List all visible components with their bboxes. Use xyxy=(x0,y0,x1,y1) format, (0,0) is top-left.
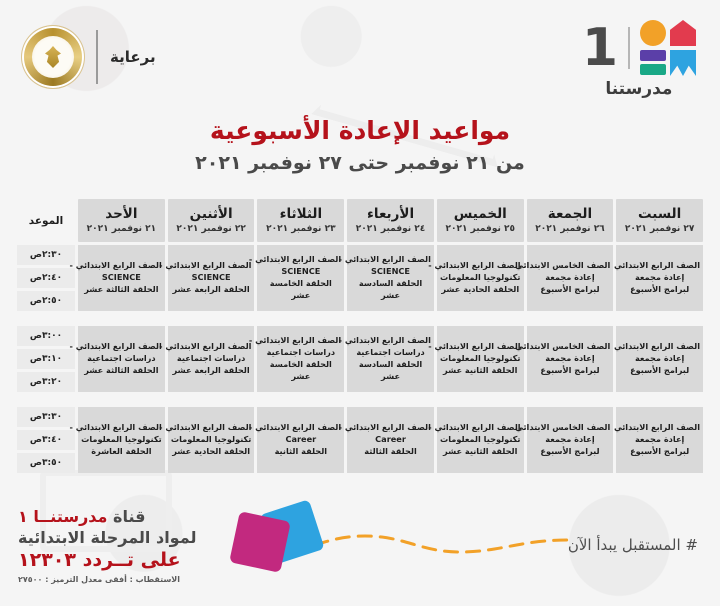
program-line-l1: الصف الرابع الابتدائي - xyxy=(260,254,341,266)
program-line-l3: الحلقة الثانية xyxy=(260,446,341,458)
program-line-l3: لبرامج الأسبوع xyxy=(530,284,611,296)
day-name: الأربعاء xyxy=(349,206,432,222)
channel-divider xyxy=(628,27,630,69)
program-line-l1: الصف الرابع الابتدائي - xyxy=(171,422,252,434)
time-slot[interactable]: ٣:٣٠ص xyxy=(17,407,75,427)
program-cell[interactable]: الصف الخامس الابتدائيإعادة مجمعةلبرامج ا… xyxy=(527,407,614,473)
channel-scope: لمواد المرحلة الابتدائية xyxy=(18,528,196,547)
day-date: ٢٦ نوفمبر ٢٠٢١ xyxy=(529,224,612,234)
program-line-l3: لبرامج الأسبوع xyxy=(619,284,700,296)
program-cell[interactable]: الصف الرابع الابتدائيإعادة مجمعةلبرامج ا… xyxy=(616,326,703,392)
program-line-l1: الصف الخامس الابتدائي xyxy=(530,341,611,353)
frequency-info: قناة مدرستنــا ١ لمواد المرحلة الابتدائي… xyxy=(18,507,196,584)
program-line-l1: الصف الخامس الابتدائي xyxy=(530,422,611,434)
day-header-2: الجمعة٢٦ نوفمبر ٢٠٢١ xyxy=(527,199,614,242)
program-line-l2: دراسات اجتماعية xyxy=(171,353,252,365)
day-date: ٢١ نوفمبر ٢٠٢١ xyxy=(80,224,163,234)
table-row: الصف الرابع الابتدائيإعادة مجمعةلبرامج ا… xyxy=(17,245,703,265)
program-cell[interactable]: الصف الخامس الابتدائيإعادة مجمعةلبرامج ا… xyxy=(527,245,614,311)
program-cell[interactable]: الصف الرابع الابتدائي -دراسات اجتماعيةال… xyxy=(78,326,165,392)
schedule-table-body: الصف الرابع الابتدائيإعادة مجمعةلبرامج ا… xyxy=(17,245,703,473)
program-cell[interactable]: الصف الرابع الابتدائي -SCIENCEالحلقة الخ… xyxy=(257,245,344,311)
schedule-poster: برعاية 1 مدرستنا مواعيد الإعادة ال xyxy=(0,0,720,606)
table-row: الصف الرابع الابتدائيإعادة مجمعةلبرامج ا… xyxy=(17,407,703,427)
day-date: ٢٣ نوفمبر ٢٠٢١ xyxy=(259,224,342,234)
program-line-l2: إعادة مجمعة xyxy=(619,353,700,365)
program-line-l2: دراسات اجتماعية xyxy=(260,347,341,359)
page-subtitle: من ٢١ نوفمبر حتى ٢٧ نوفمبر ٢٠٢١ xyxy=(0,152,720,174)
block-gap-cell xyxy=(17,314,703,323)
program-line-l2: SCIENCE xyxy=(350,266,431,278)
time-slot[interactable]: ٢:٣٠ص xyxy=(17,245,75,265)
program-line-l2: إعادة مجمعة xyxy=(530,434,611,446)
program-line-l1: الصف الرابع الابتدائي - xyxy=(260,335,341,347)
frequency-value: على تــردد ١٢٣٠٣ xyxy=(18,549,196,571)
channel-logo-row: 1 xyxy=(582,20,696,76)
program-line-l3: الحلقة الخامسة عشر xyxy=(260,278,341,302)
program-line-l3: الحلقة الحادية عشر xyxy=(440,284,521,296)
program-line-l3: الحلقة الرابعة عشر xyxy=(171,365,252,377)
channel-number: 1 xyxy=(582,25,618,72)
program-line-l3: الحلقة الخامسة عشر xyxy=(260,359,341,383)
program-cell[interactable]: الصف الرابع الابتدائي -SCIENCEالحلقة الث… xyxy=(78,245,165,311)
time-slot[interactable]: ٢:٥٠ص xyxy=(17,291,75,311)
header-row: السبت٢٧ نوفمبر ٢٠٢١الجمعة٢٦ نوفمبر ٢٠٢١ا… xyxy=(17,199,703,242)
program-line-l1: الصف الرابع الابتدائي - xyxy=(350,335,431,347)
program-line-l2: إعادة مجمعة xyxy=(619,434,700,446)
program-line-l3: الحلقة العاشرة xyxy=(81,446,162,458)
block-gap xyxy=(17,395,703,404)
day-header-1: السبت٢٧ نوفمبر ٢٠٢١ xyxy=(616,199,703,242)
program-line-l3: الحلقة الثانية عشر xyxy=(440,446,521,458)
program-line-l2: تكنولوجيا المعلومات xyxy=(440,434,521,446)
books-illustration-icon xyxy=(232,504,324,570)
day-date: ٢٢ نوفمبر ٢٠٢١ xyxy=(170,224,253,234)
program-line-l3: الحلقة الثالثة عشر xyxy=(81,284,162,296)
house-shape-icon xyxy=(670,20,696,46)
program-line-l2: إعادة مجمعة xyxy=(530,272,611,284)
program-line-l3: الحلقة الحادية عشر xyxy=(171,446,252,458)
program-line-l2: تكنولوجيا المعلومات xyxy=(440,353,521,365)
program-line-l1: الصف الرابع الابتدائي xyxy=(619,341,700,353)
block-gap xyxy=(17,314,703,323)
arch-shape-icon xyxy=(670,50,696,76)
program-cell[interactable]: الصف الخامس الابتدائيإعادة مجمعةلبرامج ا… xyxy=(527,326,614,392)
program-line-l1: الصف الرابع الابتدائي - xyxy=(171,260,252,272)
program-cell[interactable]: الصف الرابع الابتدائي -تكنولوجيا المعلوم… xyxy=(78,407,165,473)
block-gap-cell xyxy=(17,395,703,404)
program-line-l1: الصف الرابع الابتدائي xyxy=(619,422,700,434)
program-line-l3: لبرامج الأسبوع xyxy=(619,365,700,377)
program-line-l3: الحلقة الثالثة xyxy=(350,446,431,458)
program-line-l2: إعادة مجمعة xyxy=(530,353,611,365)
program-line-l3: لبرامج الأسبوع xyxy=(619,446,700,458)
day-name: الثلاثاء xyxy=(259,206,342,222)
time-slot[interactable]: ٣:٥٠ص xyxy=(17,453,75,473)
program-cell[interactable]: الصف الرابع الابتدائي -تكنولوجيا المعلوم… xyxy=(437,245,524,311)
program-cell[interactable]: الصف الرابع الابتدائي -تكنولوجيا المعلوم… xyxy=(437,326,524,392)
program-line-l3: الحلقة الثانية عشر xyxy=(440,365,521,377)
program-line-l2: دراسات اجتماعية xyxy=(81,353,162,365)
program-line-l3: الحلقة الرابعة عشر xyxy=(171,284,252,296)
program-line-l1: الصف الرابع الابتدائي - xyxy=(81,341,162,353)
schedule-table-head: السبت٢٧ نوفمبر ٢٠٢١الجمعة٢٦ نوفمبر ٢٠٢١ا… xyxy=(17,199,703,242)
teal-bar-icon xyxy=(640,64,666,75)
day-header-5: الثلاثاء٢٣ نوفمبر ٢٠٢١ xyxy=(257,199,344,242)
purple-bar-icon xyxy=(640,50,666,61)
day-name: السبت xyxy=(618,206,701,222)
program-line-l3: الحلقة السادسة عشر xyxy=(350,359,431,383)
program-line-l1: الصف الرابع الابتدائي - xyxy=(350,422,431,434)
program-line-l2: SCIENCE xyxy=(171,272,252,284)
channel-line-prefix: قناة xyxy=(107,507,145,526)
time-slot[interactable]: ٢:٤٠ص xyxy=(17,268,75,288)
program-line-l2: دراسات اجتماعية xyxy=(350,347,431,359)
program-line-l1: الصف الرابع الابتدائي - xyxy=(350,254,431,266)
program-cell[interactable]: الصف الرابع الابتدائي -تكنولوجيا المعلوم… xyxy=(437,407,524,473)
day-name: الجمعة xyxy=(529,206,612,222)
day-name: الأثنين xyxy=(170,206,253,222)
program-cell[interactable]: الصف الرابع الابتدائي -دراسات اجتماعيةال… xyxy=(347,326,434,392)
program-line-l1: الصف الرابع الابتدائي - xyxy=(440,341,521,353)
sponsor-block: برعاية xyxy=(22,26,156,88)
program-line-l1: الصف الرابع الابتدائي - xyxy=(440,422,521,434)
circle-shape-icon xyxy=(640,20,666,46)
hashtag-text: # المستقبل يبدأ الآن xyxy=(568,536,698,554)
program-line-l2: إعادة مجمعة xyxy=(619,272,700,284)
channel-line: قناة مدرستنــا ١ xyxy=(18,507,196,526)
channel-logo: 1 مدرستنا xyxy=(582,20,696,99)
day-name: الخميس xyxy=(439,206,522,222)
program-line-l2: SCIENCE xyxy=(260,266,341,278)
poster-header: برعاية 1 مدرستنا xyxy=(0,0,720,112)
program-line-l1: الصف الرابع الابتدائي - xyxy=(260,422,341,434)
day-header-3: الخميس٢٥ نوفمبر ٢٠٢١ xyxy=(437,199,524,242)
bars-shape-icon xyxy=(640,50,666,76)
program-cell[interactable]: الصف الرابع الابتدائي -دراسات اجتماعيةال… xyxy=(257,326,344,392)
program-cell[interactable]: الصف الرابع الابتدائي -Careerالحلقة الثا… xyxy=(257,407,344,473)
polarization-info: الاستقطاب : أفقى معدل الترميز : ٢٧٥٠٠ xyxy=(18,575,196,584)
schedule-table-wrap: السبت٢٧ نوفمبر ٢٠٢١الجمعة٢٦ نوفمبر ٢٠٢١ا… xyxy=(14,196,706,476)
program-line-l3: لبرامج الأسبوع xyxy=(530,365,611,377)
day-date: ٢٧ نوفمبر ٢٠٢١ xyxy=(618,224,701,234)
day-header-7: الأحد٢١ نوفمبر ٢٠٢١ xyxy=(78,199,165,242)
program-cell[interactable]: الصف الرابع الابتدائي -SCIENCEالحلقة الس… xyxy=(347,245,434,311)
table-row: الصف الرابع الابتدائيإعادة مجمعةلبرامج ا… xyxy=(17,326,703,346)
time-slot[interactable]: ٣:٤٠ص xyxy=(17,430,75,450)
program-line-l3: الحلقة الثالثة عشر xyxy=(81,365,162,377)
program-line-l2: تكنولوجيا المعلومات xyxy=(440,272,521,284)
day-header-4: الأربعاء٢٤ نوفمبر ٢٠٢١ xyxy=(347,199,434,242)
program-cell[interactable]: الصف الرابع الابتدائي -تكنولوجيا المعلوم… xyxy=(168,407,255,473)
poster-footer: # المستقبل يبدأ الآن قناة مدرستنــا ١ لم… xyxy=(0,486,720,606)
program-line-l3: الحلقة السادسة عشر xyxy=(350,278,431,302)
program-cell[interactable]: الصف الرابع الابتدائي -دراسات اجتماعيةال… xyxy=(168,326,255,392)
program-cell[interactable]: الصف الرابع الابتدائي -SCIENCEالحلقة الر… xyxy=(168,245,255,311)
sponsor-divider xyxy=(96,30,98,84)
ministry-of-education-seal-icon xyxy=(22,26,84,88)
pink-book-icon xyxy=(229,511,291,573)
program-line-l1: الصف الرابع الابتدائي - xyxy=(81,422,162,434)
program-line-l1: الصف الخامس الابتدائي xyxy=(530,260,611,272)
title-block: مواعيد الإعادة الأسبوعية من ٢١ نوفمبر حت… xyxy=(0,116,720,174)
day-name: الأحد xyxy=(80,206,163,222)
time-slot[interactable]: ٣:٠٠ص xyxy=(17,326,75,346)
program-line-l2: تكنولوجيا المعلومات xyxy=(171,434,252,446)
time-slot[interactable]: ٣:١٠ص xyxy=(17,349,75,369)
program-line-l1: الصف الرابع الابتدائي - xyxy=(171,341,252,353)
program-line-l1: الصف الرابع الابتدائي - xyxy=(81,260,162,272)
day-date: ٢٤ نوفمبر ٢٠٢١ xyxy=(349,224,432,234)
sponsor-label: برعاية xyxy=(110,48,156,66)
program-cell[interactable]: الصف الرابع الابتدائيإعادة مجمعةلبرامج ا… xyxy=(616,245,703,311)
channel-name: مدرستنا xyxy=(605,79,672,99)
slot-column-header: الموعد xyxy=(17,199,75,242)
program-line-l1: الصف الرابع الابتدائي xyxy=(619,260,700,272)
program-line-l2: Career xyxy=(350,434,431,446)
program-line-l2: SCIENCE xyxy=(81,272,162,284)
program-cell[interactable]: الصف الرابع الابتدائي -Careerالحلقة الثا… xyxy=(347,407,434,473)
day-header-6: الأثنين٢٢ نوفمبر ٢٠٢١ xyxy=(168,199,255,242)
program-line-l2: تكنولوجيا المعلومات xyxy=(81,434,162,446)
page-title: مواعيد الإعادة الأسبوعية xyxy=(0,116,720,145)
time-slot[interactable]: ٣:٢٠ص xyxy=(17,372,75,392)
program-line-l2: Career xyxy=(260,434,341,446)
program-line-l3: لبرامج الأسبوع xyxy=(530,446,611,458)
madrasatna-mark-icon xyxy=(640,20,696,76)
channel-line-brand: مدرستنــا ١ xyxy=(18,507,107,526)
program-cell[interactable]: الصف الرابع الابتدائيإعادة مجمعةلبرامج ا… xyxy=(616,407,703,473)
program-line-l1: الصف الرابع الابتدائي - xyxy=(440,260,521,272)
day-date: ٢٥ نوفمبر ٢٠٢١ xyxy=(439,224,522,234)
schedule-table: السبت٢٧ نوفمبر ٢٠٢١الجمعة٢٦ نوفمبر ٢٠٢١ا… xyxy=(14,196,706,476)
